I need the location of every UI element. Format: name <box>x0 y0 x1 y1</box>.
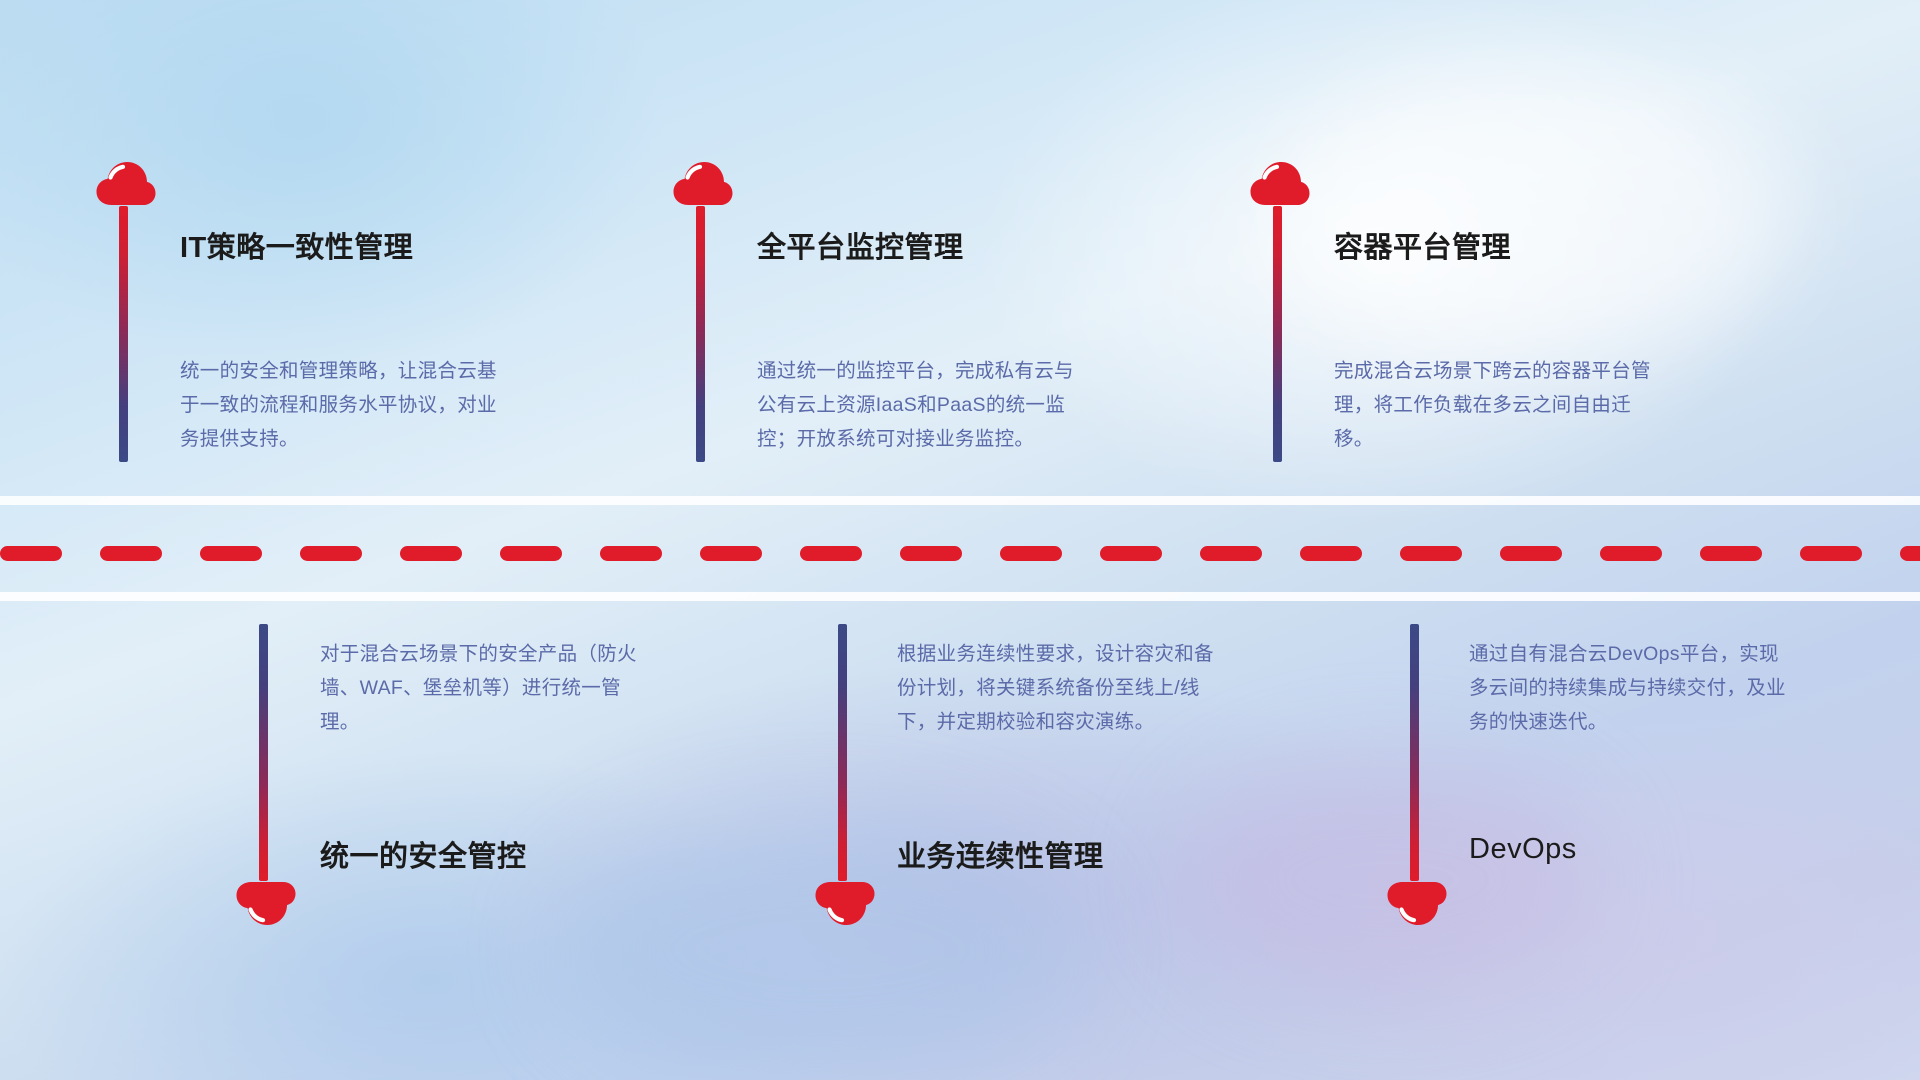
card-description: 对于混合云场景下的安全产品（防火墙、WAF、堡垒机等）进行统一管理。 <box>320 637 650 739</box>
connector-stem <box>1273 206 1282 462</box>
card-description: 统一的安全和管理策略，让混合云基于一致的流程和服务水平协议，对业务提供支持。 <box>180 354 510 456</box>
road-dashed-centerline <box>0 546 1920 561</box>
connector-stem <box>696 206 705 462</box>
background-blob <box>1280 60 1800 360</box>
card-description: 通过统一的监控平台，完成私有云与公有云上资源IaaS和PaaS的统一监控；开放系… <box>757 354 1087 456</box>
cloud-icon <box>814 881 876 927</box>
cloud-icon <box>1249 160 1311 206</box>
connector-stem <box>838 624 847 881</box>
cloud-icon <box>235 881 297 927</box>
road-line-lower <box>0 592 1920 601</box>
card-description: 根据业务连续性要求，设计容灾和备份计划，将关键系统备份至线上/线下，并定期校验和… <box>897 637 1227 739</box>
cloud-icon <box>672 160 734 206</box>
connector-stem <box>259 624 268 881</box>
card-title: 业务连续性管理 <box>897 833 1104 875</box>
card-description: 完成混合云场景下跨云的容器平台管理，将工作负载在多云之间自由迁移。 <box>1334 354 1664 456</box>
infographic-canvas: IT策略一致性管理 统一的安全和管理策略，让混合云基于一致的流程和服务水平协议，… <box>0 0 1920 1080</box>
card-title: 统一的安全管控 <box>320 833 527 875</box>
connector-stem <box>119 206 128 462</box>
road-line-upper <box>0 496 1920 505</box>
card-description: 通过自有混合云DevOps平台，实现多云间的持续集成与持续交付，及业务的快速迭代… <box>1469 637 1794 739</box>
card-title: 全平台监控管理 <box>757 224 964 266</box>
card-title: IT策略一致性管理 <box>180 224 413 266</box>
card-title: 容器平台管理 <box>1334 224 1511 266</box>
cloud-icon <box>1386 881 1448 927</box>
background-blob <box>1180 760 1600 1000</box>
connector-stem <box>1410 624 1419 881</box>
cloud-icon <box>95 160 157 206</box>
card-title: DevOps <box>1469 833 1577 866</box>
